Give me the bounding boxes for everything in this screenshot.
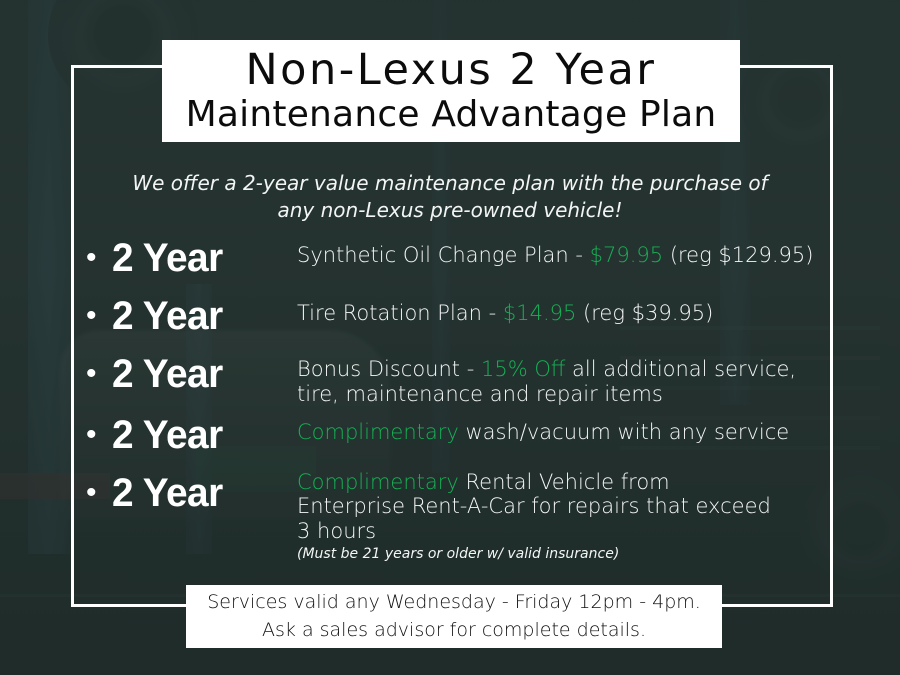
footer-line2: Ask a sales advisor for complete details… — [262, 617, 646, 645]
footer-line1: Services valid any Wednesday - Friday 12… — [207, 589, 701, 617]
benefit-disclaimer: (Must be 21 years or older w/ valid insu… — [297, 546, 775, 563]
benefit-description: Complimentary wash/vacuum with any servi… — [297, 409, 789, 445]
benefits-list: • 2 Year Synthetic Oil Change Plan - $79… — [86, 232, 846, 568]
benefit-text-post: (reg $39.95) — [576, 301, 713, 325]
title-plate: Non-Lexus 2 Year Maintenance Advantage P… — [162, 40, 740, 142]
benefit-description: Tire Rotation Plan - $14.95 (reg $39.95) — [297, 290, 713, 326]
benefit-term: 2 Year — [112, 348, 291, 400]
benefit-highlight: Complimentary — [297, 420, 459, 444]
footer-plate: Services valid any Wednesday - Friday 12… — [186, 585, 722, 648]
benefit-text-pre: Tire Rotation Plan - — [297, 301, 503, 325]
list-item: • 2 Year Tire Rotation Plan - $14.95 (re… — [86, 290, 846, 342]
page-title-line2: Maintenance Advantage Plan — [186, 95, 717, 135]
list-item: • 2 Year Bonus Discount - 15% Off all ad… — [86, 348, 846, 407]
benefit-description: Complimentary Rental Vehicle from Enterp… — [297, 467, 775, 563]
subtitle-line2: any non-Lexus pre-owned vehicle! — [0, 197, 900, 224]
subtitle-line1: We offer a 2-year value maintenance plan… — [0, 170, 900, 197]
benefit-highlight: 15% Off — [481, 357, 565, 381]
benefit-description: Synthetic Oil Change Plan - $79.95 (reg … — [297, 232, 813, 268]
bullet-dot-icon: • — [86, 409, 112, 461]
benefit-description: Bonus Discount - 15% Off all additional … — [297, 348, 822, 407]
benefit-term: 2 Year — [112, 290, 291, 342]
benefit-term: 2 Year — [112, 409, 291, 461]
list-item: • 2 Year Complimentary wash/vacuum with … — [86, 409, 846, 461]
benefit-text-pre: Bonus Discount - — [297, 357, 481, 381]
list-item: • 2 Year Complimentary Rental Vehicle fr… — [86, 467, 846, 563]
benefit-highlight: $79.95 — [590, 243, 663, 267]
benefit-text-post: wash/vacuum with any service — [459, 420, 789, 444]
bullet-dot-icon: • — [86, 232, 112, 284]
benefit-text-pre: Synthetic Oil Change Plan - — [297, 243, 590, 267]
benefit-highlight: $14.95 — [503, 301, 576, 325]
list-item: • 2 Year Synthetic Oil Change Plan - $79… — [86, 232, 846, 284]
bullet-dot-icon: • — [86, 290, 112, 342]
benefit-term: 2 Year — [112, 232, 291, 284]
benefit-highlight: Complimentary — [297, 470, 459, 494]
benefit-term: 2 Year — [112, 467, 291, 519]
bullet-dot-icon: • — [86, 467, 112, 519]
subtitle: We offer a 2-year value maintenance plan… — [0, 170, 900, 224]
page-title-line1: Non-Lexus 2 Year — [246, 49, 657, 93]
benefit-text-post: (reg $129.95) — [663, 243, 813, 267]
bullet-dot-icon: • — [86, 348, 112, 400]
